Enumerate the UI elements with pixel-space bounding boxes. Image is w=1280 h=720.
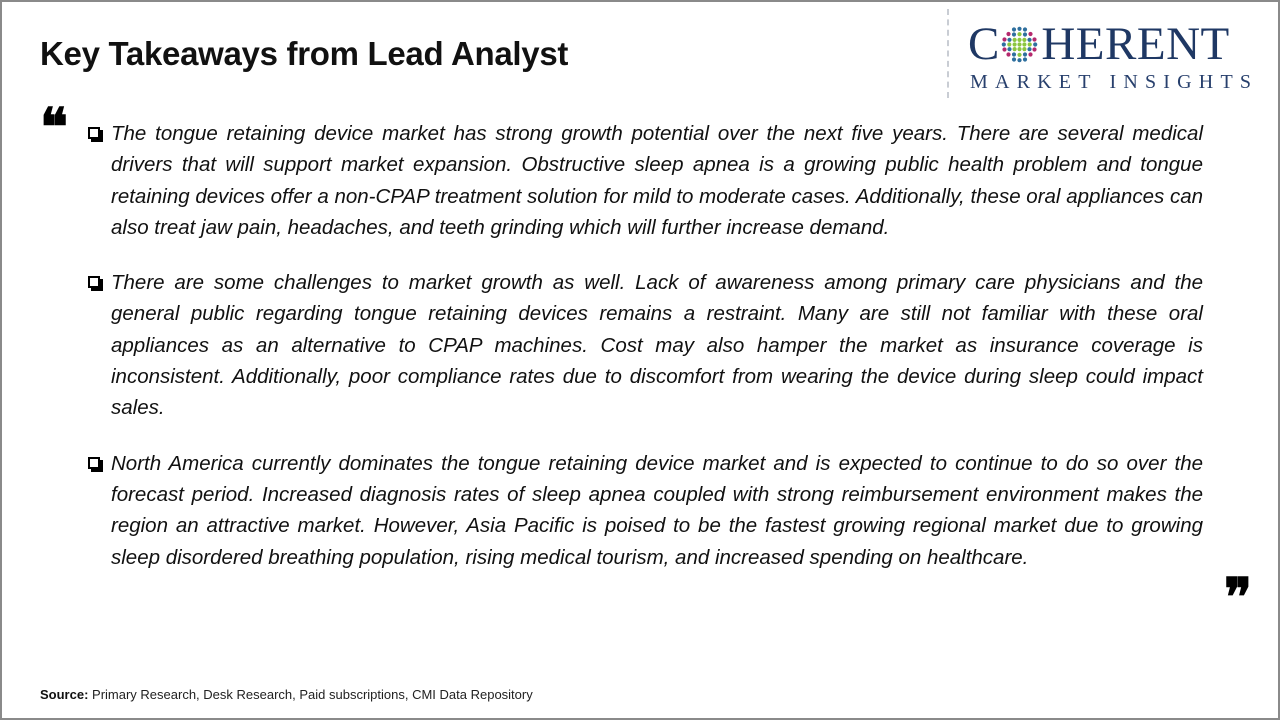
hollow-square-bullet-icon: [88, 127, 100, 139]
takeaway-item: North America currently dominates the to…: [88, 448, 1203, 573]
closing-quote-icon: ❞: [1224, 573, 1250, 625]
takeaway-text: North America currently dominates the to…: [111, 452, 1203, 569]
opening-quote-icon: ❝: [40, 103, 66, 155]
hollow-square-bullet-icon: [88, 276, 100, 288]
header-dashed-divider: [947, 9, 949, 98]
logo-wordmark: C: [968, 21, 1264, 67]
source-text: Primary Research, Desk Research, Paid su…: [88, 687, 532, 702]
takeaway-item: There are some challenges to market grow…: [88, 267, 1203, 423]
logo-wordmark-rest: HERENT: [1041, 21, 1229, 68]
hollow-square-bullet-icon: [88, 457, 100, 469]
takeaway-item: The tongue retaining device market has s…: [88, 118, 1203, 243]
takeaways-list: The tongue retaining device market has s…: [88, 118, 1203, 573]
coherent-market-insights-logo: C: [968, 21, 1264, 97]
page-title: Key Takeaways from Lead Analyst: [40, 35, 568, 73]
slide-canvas: Key Takeaways from Lead Analyst C: [0, 0, 1280, 720]
takeaway-text: The tongue retaining device market has s…: [111, 122, 1203, 239]
source-label: Source:: [40, 687, 88, 702]
source-footer: Source: Primary Research, Desk Research,…: [40, 687, 533, 702]
dotted-globe-icon: [999, 24, 1040, 65]
logo-tagline: MARKET INSIGHTS: [970, 71, 1258, 94]
takeaway-text: There are some challenges to market grow…: [111, 271, 1203, 419]
slide-header: Key Takeaways from Lead Analyst C: [2, 2, 1280, 106]
logo-letter-c: C: [968, 21, 999, 68]
